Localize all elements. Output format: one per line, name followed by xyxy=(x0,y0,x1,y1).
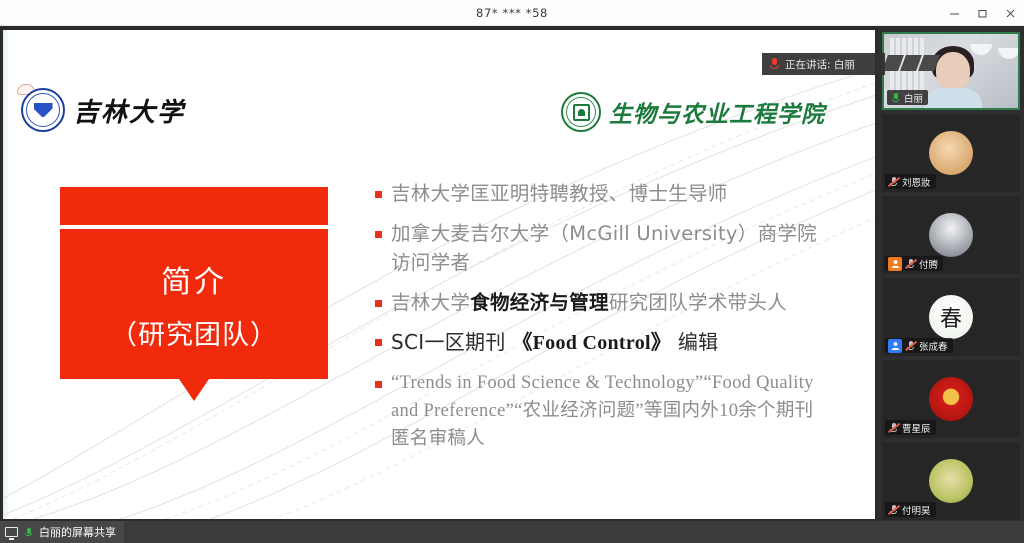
window-titlebar: 87* *** *58 xyxy=(0,0,1024,26)
bullet-text-emphasis: 食物经济与管理 xyxy=(470,291,609,314)
bullet-marker-icon xyxy=(375,231,382,238)
microphone-icon xyxy=(768,57,780,71)
meeting-id-title: 87* *** *58 xyxy=(476,6,548,20)
bullet-marker-icon xyxy=(375,300,382,307)
participant-label: 付明昊 xyxy=(885,502,936,517)
participant-label: 付腾 xyxy=(885,256,943,271)
participant-avatar xyxy=(929,131,973,175)
participant-name: 付腾 xyxy=(919,257,938,271)
bullet-text: 吉林大学食物经济与管理研究团队学术带头人 xyxy=(391,289,787,318)
shared-screen-area: 吉林大学 生物与农业工程学院 简介 （研究团队） xyxy=(0,26,878,521)
mic-off-icon xyxy=(905,258,916,269)
zoom-meeting-window: 87* *** *58 xyxy=(0,0,1024,543)
screen-share-status-chip[interactable]: 白丽的屏幕共享 xyxy=(0,521,124,543)
close-icon[interactable] xyxy=(996,0,1024,26)
bullet-text-post: 编辑 xyxy=(671,330,718,354)
bullet-text-emphasis: 《Food Control》 xyxy=(512,332,671,354)
bullet-item: SCI一区期刊 《Food Control》 编辑 xyxy=(375,328,831,359)
slide-section-callout: 简介 （研究团队） xyxy=(60,187,328,379)
participant-name: 付明昊 xyxy=(902,503,931,517)
maximize-icon[interactable] xyxy=(968,0,996,26)
participant-filmstrip[interactable]: 白丽 刘恩妝 付腾 xyxy=(878,26,1024,521)
bullet-item: 加拿大麦吉尔大学（McGill University）商学院访问学者 xyxy=(375,220,831,278)
participant-name: 曹星辰 xyxy=(902,421,931,435)
bullet-text-pre: 吉林大学 xyxy=(391,291,470,314)
mic-on-icon xyxy=(890,92,901,103)
presentation-slide: 吉林大学 生物与农业工程学院 简介 （研究团队） xyxy=(3,30,875,519)
bullet-text-post: 研究团队学术带头人 xyxy=(609,291,787,314)
participant-avatar xyxy=(929,213,973,257)
panel-collapse-chevrons-icon[interactable] xyxy=(885,55,937,71)
jilin-university-seal-icon xyxy=(21,88,65,132)
bullet-marker-icon xyxy=(375,381,382,388)
mic-off-icon xyxy=(888,504,899,515)
minimize-icon[interactable] xyxy=(940,0,968,26)
bullet-text: SCI一区期刊 《Food Control》 编辑 xyxy=(391,328,718,359)
callout-title: 简介 xyxy=(161,257,227,301)
participant-label: 张成春 xyxy=(885,338,953,353)
participant-avatar xyxy=(929,459,973,503)
participant-name: 刘恩妝 xyxy=(902,175,931,189)
participant-label: 刘恩妝 xyxy=(885,174,936,189)
jilin-university-logo: 吉林大学 xyxy=(21,88,185,132)
bullet-item: 吉林大学匡亚明特聘教授、博士生导师 xyxy=(375,180,831,209)
active-speaker-text: 正在讲话: 白丽 xyxy=(785,57,855,72)
bullet-item: “Trends in Food Science & Technology”“Fo… xyxy=(375,370,831,453)
bullet-item: 吉林大学食物经济与管理研究团队学术带头人 xyxy=(375,289,831,318)
screen-share-icon xyxy=(5,527,18,537)
bullet-text: 吉林大学匡亚明特聘教授、博士生导师 xyxy=(391,180,728,209)
participant-avatar xyxy=(929,295,973,339)
callout-body: 简介 （研究团队） xyxy=(60,229,328,379)
bullet-text-pre: SCI一区期刊 xyxy=(391,330,512,354)
mic-off-icon xyxy=(888,176,899,187)
mic-off-icon xyxy=(905,340,916,351)
bullet-marker-icon xyxy=(375,339,382,346)
participant-name: 白丽 xyxy=(904,91,923,105)
participant-name: 张成春 xyxy=(919,339,948,353)
bullet-text: 加拿大麦吉尔大学（McGill University）商学院访问学者 xyxy=(391,220,831,278)
college-logo-text: 生物与农业工程学院 xyxy=(609,95,825,129)
screen-share-label: 白丽的屏幕共享 xyxy=(39,524,116,540)
participant-label: 曹星辰 xyxy=(885,420,936,435)
slide-bullet-list: 吉林大学匡亚明特聘教授、博士生导师 加拿大麦吉尔大学（McGill Univer… xyxy=(375,180,831,464)
bullet-marker-icon xyxy=(375,191,382,198)
bottom-status-bar: 白丽的屏幕共享 xyxy=(0,521,1024,543)
slide-left-edge xyxy=(3,30,8,519)
college-logo: 生物与农业工程学院 xyxy=(561,92,825,132)
bullet-text: “Trends in Food Science & Technology”“Fo… xyxy=(391,370,831,453)
meeting-stage: 吉林大学 生物与农业工程学院 简介 （研究团队） xyxy=(0,26,1024,521)
participant-tile[interactable]: 曹星辰 xyxy=(882,360,1020,438)
host-badge-icon xyxy=(888,257,902,271)
college-seal-icon xyxy=(561,92,601,132)
callout-subtitle: （研究团队） xyxy=(110,313,278,352)
participant-tile[interactable]: 白丽 xyxy=(882,32,1020,110)
callout-top-bar xyxy=(60,187,328,225)
window-controls xyxy=(940,0,1024,26)
active-speaker-toast: 正在讲话: 白丽 xyxy=(762,53,885,75)
mic-off-icon xyxy=(888,422,899,433)
participant-avatar xyxy=(929,377,973,421)
participant-tile[interactable]: 刘恩妝 xyxy=(882,114,1020,192)
participant-tile[interactable]: 付腾 xyxy=(882,196,1020,274)
participant-tile[interactable]: 张成春 xyxy=(882,278,1020,356)
cohost-badge-icon xyxy=(888,339,902,353)
participant-tile[interactable]: 付明昊 xyxy=(882,442,1020,520)
participant-label: 白丽 xyxy=(887,90,928,105)
jilin-university-logo-text: 吉林大学 xyxy=(73,92,185,129)
mic-on-icon xyxy=(23,527,34,538)
